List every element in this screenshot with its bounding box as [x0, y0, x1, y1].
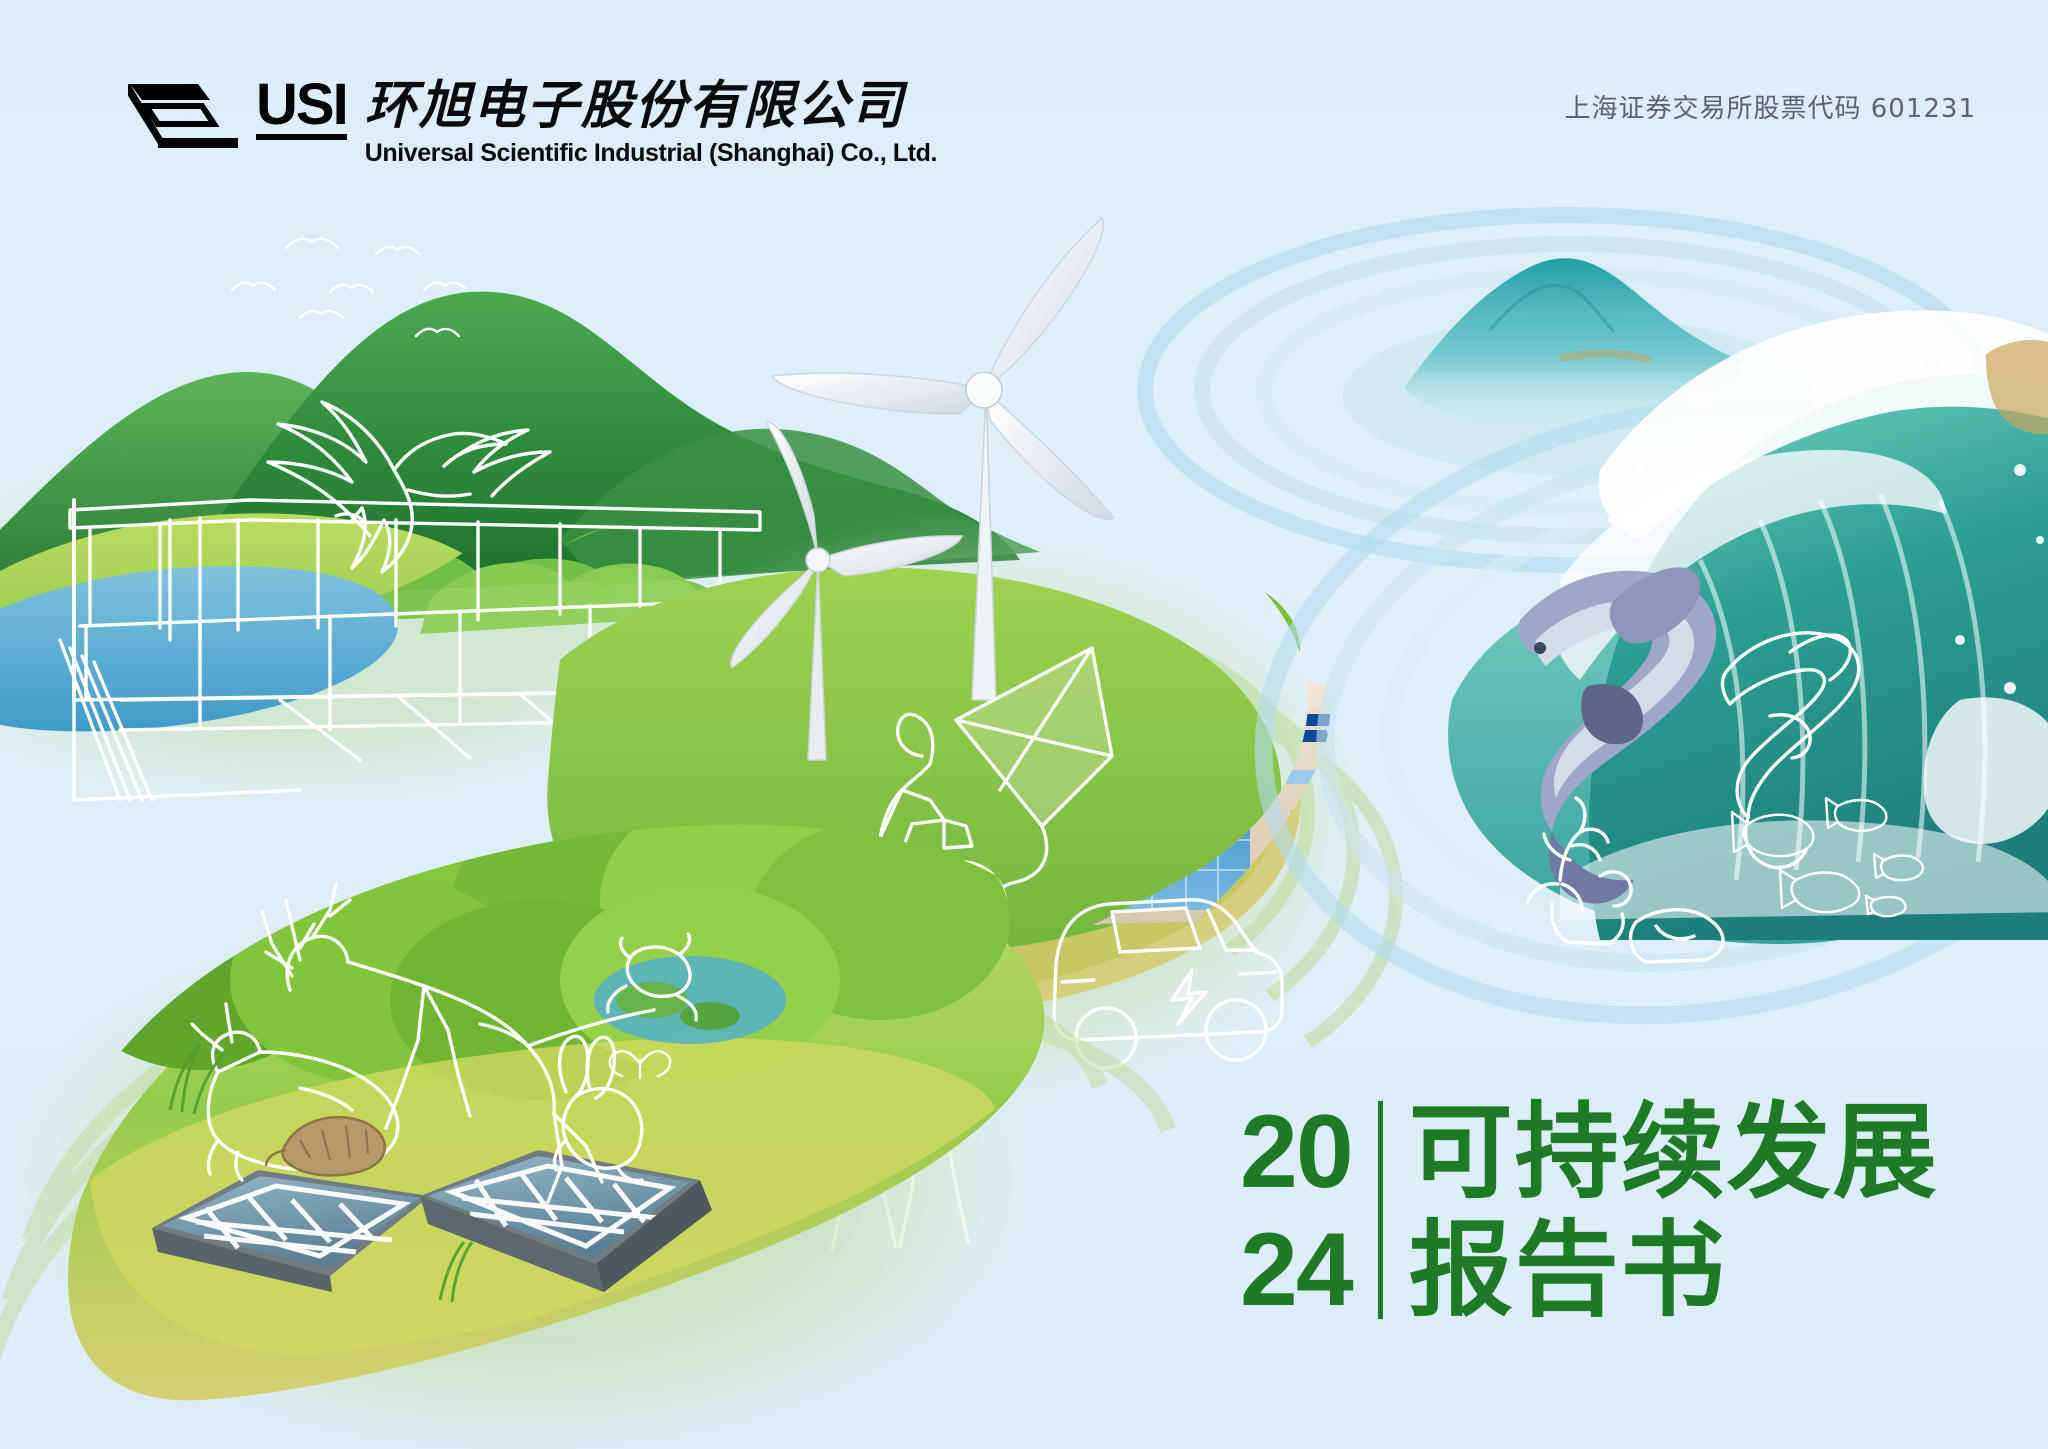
report-title-cn: 可持续发展 报告书 — [1409, 1093, 1939, 1329]
page-header: USI 环旭电子股份有限公司 Universal Scientific Indu… — [0, 0, 2048, 190]
logo-company-names: 环旭电子股份有限公司 Universal Scientific Industri… — [365, 78, 937, 168]
usi-logo-mark — [128, 78, 246, 150]
title-divider — [1378, 1101, 1383, 1319]
report-year: 20 24 — [1240, 1093, 1352, 1329]
report-title-line1: 可持续发展 — [1409, 1093, 1939, 1211]
report-title: 20 24 可持续发展 报告书 — [1240, 1093, 1939, 1329]
logo-usi-text: USI — [256, 78, 347, 140]
report-year-bottom: 24 — [1240, 1211, 1352, 1329]
logo-company-en: Universal Scientific Industrial (Shangha… — [365, 138, 937, 168]
report-year-top: 20 — [1240, 1093, 1352, 1211]
stock-code-label: 上海证券交易所股票代码 601231 — [1564, 88, 1976, 125]
company-logo: USI 环旭电子股份有限公司 Universal Scientific Indu… — [128, 78, 937, 168]
report-title-line2: 报告书 — [1409, 1211, 1939, 1329]
logo-company-cn: 环旭电子股份有限公司 — [365, 78, 937, 134]
logo-usi-wordmark: USI — [256, 78, 347, 140]
cover-page: USI — [0, 0, 2048, 1449]
